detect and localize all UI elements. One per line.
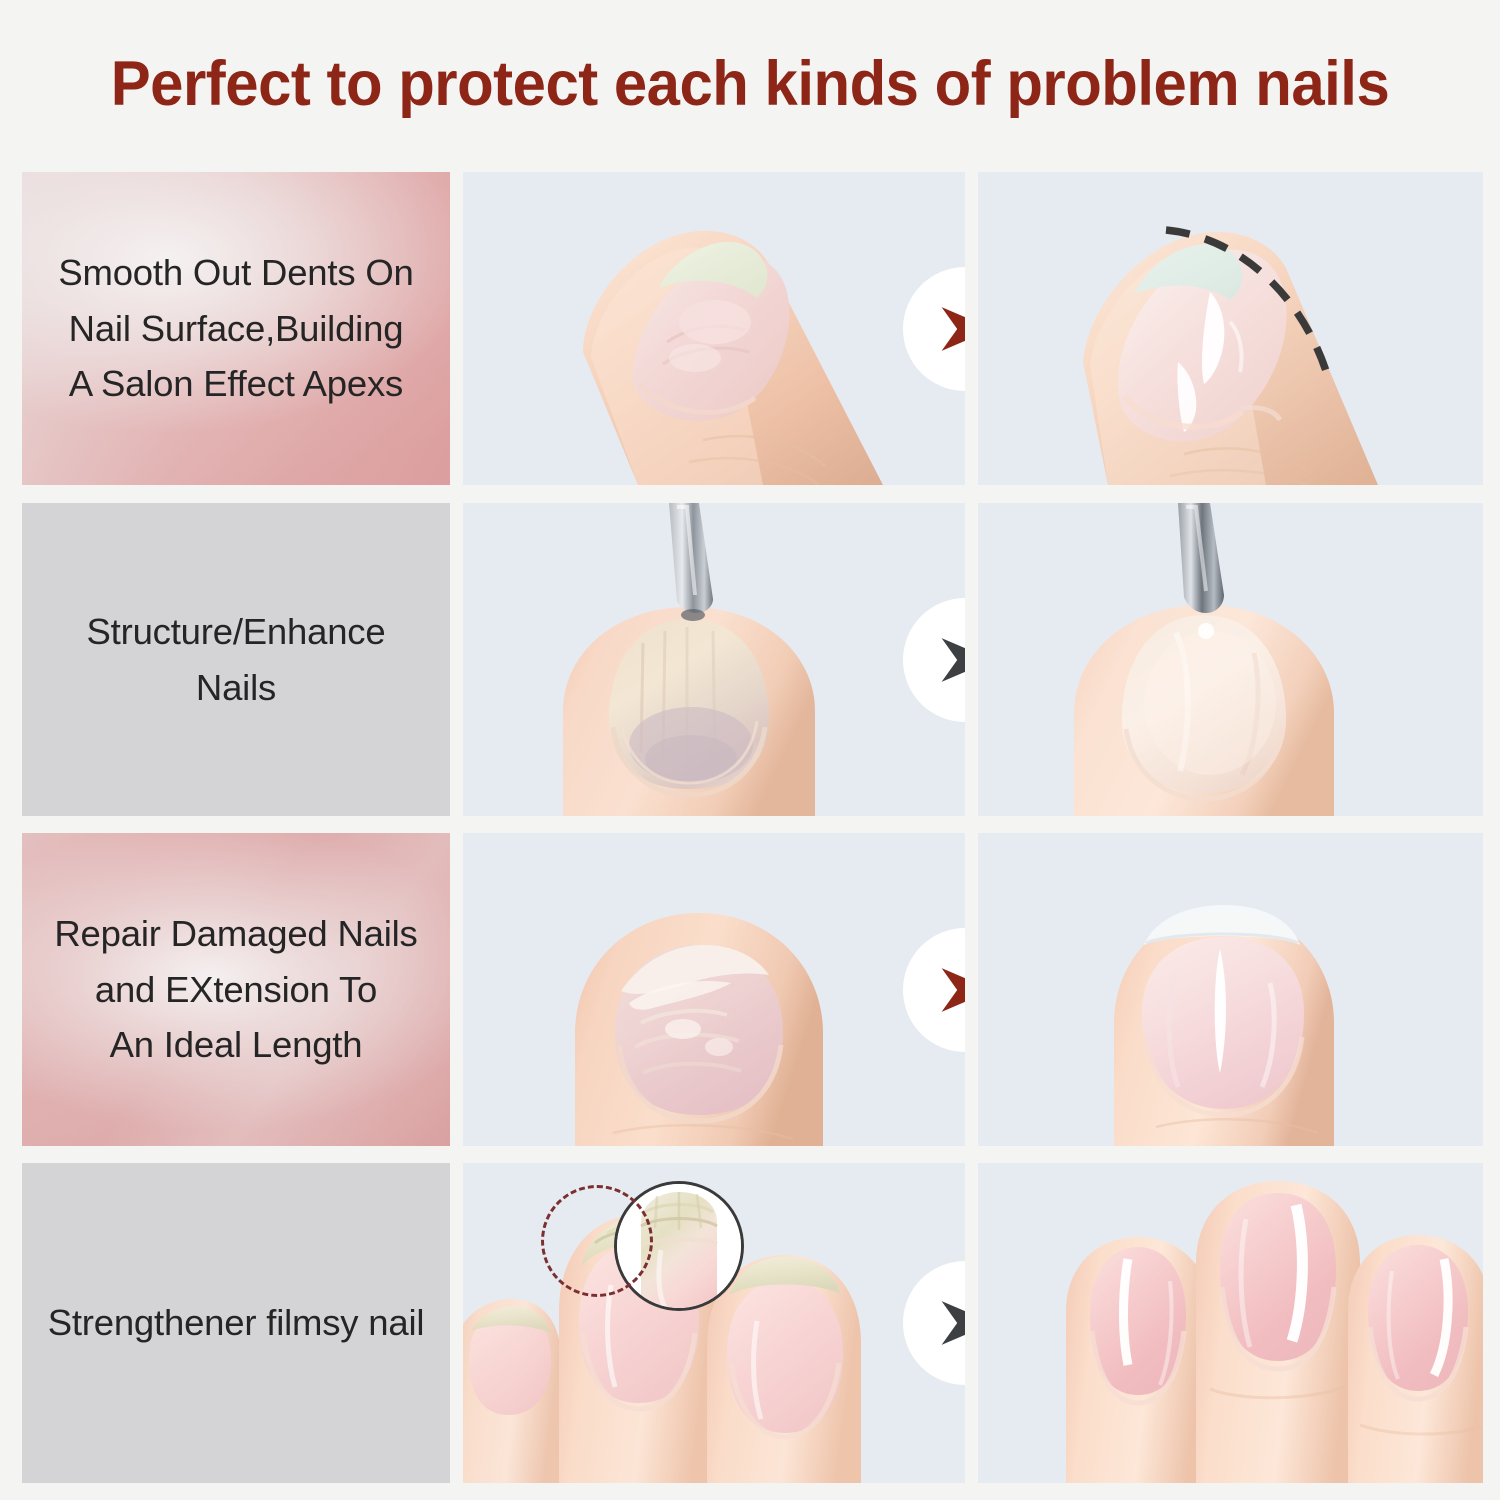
photo-artwork (463, 503, 965, 816)
row-label-structure-enhance: Structure/Enhance Nails (22, 503, 450, 816)
row-label-smooth-dents: Smooth Out Dents On Nail Surface,Buildin… (22, 172, 450, 485)
comparison-grid: Smooth Out Dents On Nail Surface,Buildin… (0, 0, 1500, 1500)
row-label-text: Repair Damaged Nails and EXtension To An… (54, 906, 417, 1072)
photo-artwork (978, 1163, 1483, 1483)
before-photo-strengthener-filmsy (463, 1163, 965, 1483)
before-photo-smooth-dents (463, 172, 965, 485)
photo-artwork (463, 172, 965, 485)
before-photo-repair-damaged (463, 833, 965, 1146)
before-photo-structure-enhance (463, 503, 965, 816)
table-row: Structure/Enhance Nails (0, 503, 1500, 816)
after-photo-structure-enhance (978, 503, 1483, 816)
row-label-repair-damaged: Repair Damaged Nails and EXtension To An… (22, 833, 450, 1146)
table-row: Strengthener filmsy nail (0, 1163, 1500, 1483)
photo-artwork (978, 833, 1483, 1146)
row-label-text: Structure/Enhance Nails (87, 604, 386, 715)
chevron-right-arrow-icon (926, 951, 965, 1029)
dashed-apex-curve-annotation (978, 172, 1483, 485)
after-photo-strengthener-filmsy (978, 1163, 1483, 1483)
chevron-right-arrow-icon (926, 290, 965, 368)
after-photo-repair-damaged (978, 833, 1483, 1146)
after-photo-smooth-dents (978, 172, 1483, 485)
chevron-right-arrow-icon (926, 1284, 965, 1362)
table-row: Smooth Out Dents On Nail Surface,Buildin… (0, 172, 1500, 485)
chevron-right-arrow-icon (926, 621, 965, 699)
row-label-text: Strengthener filmsy nail (48, 1295, 425, 1350)
row-label-strengthener-filmsy: Strengthener filmsy nail (22, 1163, 450, 1483)
dashed-marker-circle-annotation (541, 1185, 653, 1297)
table-row: Repair Damaged Nails and EXtension To An… (0, 833, 1500, 1146)
photo-artwork (463, 833, 965, 1146)
photo-artwork (978, 172, 1483, 485)
photo-artwork (978, 503, 1483, 816)
row-label-text: Smooth Out Dents On Nail Surface,Buildin… (58, 245, 413, 411)
